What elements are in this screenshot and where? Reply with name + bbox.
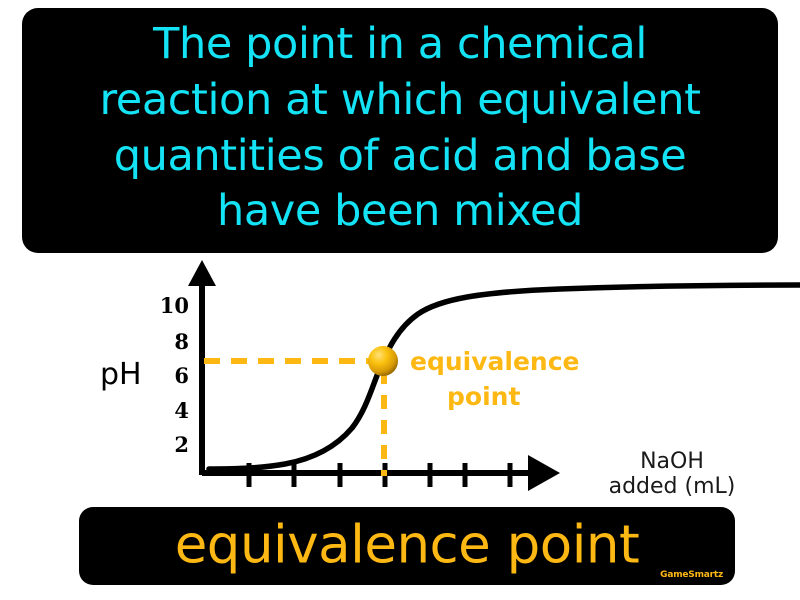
y-tick-label-6: 6 [174, 363, 189, 388]
x-axis-label-line2: added (mL) [609, 474, 736, 499]
x-axis-label: NaOH added (mL) [609, 449, 736, 499]
equivalence-point-label-line1: equivalence [410, 347, 579, 376]
titration-curve-path [209, 285, 800, 469]
y-axis-label: pH [100, 357, 142, 392]
term-banner: equivalence point GameSmartz [79, 507, 735, 585]
equivalence-point-annotation: equivalence point [410, 347, 579, 411]
term-label: equivalence point [79, 518, 735, 571]
y-tick-label-8: 8 [174, 329, 189, 354]
y-axis [188, 260, 216, 475]
chart-svg: 10 8 6 4 2 pH NaOH added (mL) equivalenc… [0, 250, 800, 510]
x-axis-label-line1: NaOH [640, 449, 704, 474]
equivalence-point-label-line2: point [447, 382, 520, 411]
y-tick-label-4: 4 [174, 398, 189, 423]
definition-banner: The point in a chemical reaction at whic… [22, 8, 778, 253]
y-tick-label-2: 2 [174, 432, 189, 457]
watermark-label: GameSmartz [660, 570, 723, 580]
y-axis-tick-labels: 10 8 6 4 2 [160, 293, 189, 457]
y-tick-label-10: 10 [160, 293, 189, 318]
equivalence-point-marker[interactable] [368, 346, 398, 376]
definition-text: The point in a chemical reaction at whic… [99, 17, 700, 241]
titration-curve-chart: 10 8 6 4 2 pH NaOH added (mL) equivalenc… [0, 250, 800, 510]
